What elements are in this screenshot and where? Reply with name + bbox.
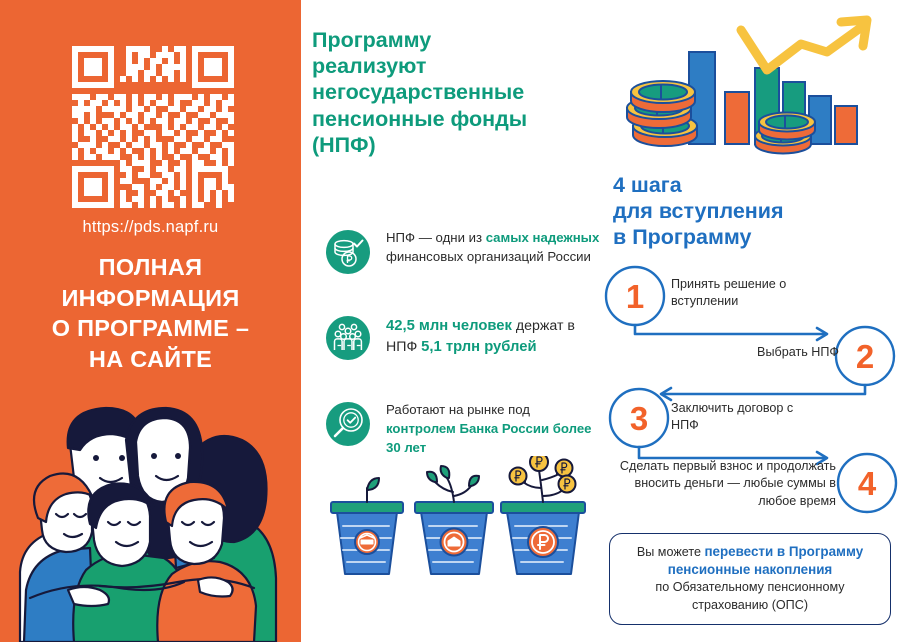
page-title-line-2: ИНФОРМАЦИЯ <box>0 283 301 314</box>
steps-heading: 4 шага для вступления в Программу <box>613 172 898 251</box>
middle-heading: Программу реализуют негосударственные пе… <box>312 27 602 158</box>
note-line-4: страхованию (ОПС) <box>692 598 808 612</box>
right-column: 4 шага для вступления в Программу 1 Прин… <box>601 0 900 642</box>
fact-text-reliability: НПФ — одни из самых надежных финансовых … <box>386 222 602 266</box>
fact-item-reliability: НПФ — одни из самых надежных финансовых … <box>312 222 602 300</box>
steps-heading-line-3: в Программу <box>613 224 898 250</box>
middle-column: Программу реализуют негосударственные пе… <box>301 0 601 642</box>
step-label-1: Принять решение о вступлении <box>671 276 801 311</box>
steps-heading-line-1: 4 шага <box>613 172 898 198</box>
qr-code[interactable] <box>66 40 240 214</box>
fact-text-plain: НПФ — одни из <box>386 230 486 245</box>
fact-text-emphasis: контролем Банка России более 30 лет <box>386 421 592 455</box>
note-line-3: по Обязательному пенсионному <box>655 580 844 594</box>
group-of-people-illustration <box>8 392 301 642</box>
middle-heading-line-5: (НПФ) <box>312 132 602 158</box>
fact-text-plain-2: финансовых организаций России <box>386 249 591 264</box>
magnifier-check-icon <box>326 402 370 446</box>
step-label-4: Сделать первый взнос и продолжать вносит… <box>611 458 836 510</box>
step-number-4: 4 <box>847 467 887 500</box>
left-orange-panel: https://pds.napf.ru ПОЛНАЯ ИНФОРМАЦИЯ О … <box>0 0 301 642</box>
steps-heading-line-2: для вступления <box>613 198 898 224</box>
step-number-3: 3 <box>619 402 659 435</box>
middle-heading-line-2: реализуют <box>312 53 602 79</box>
money-plants-illustration <box>311 456 601 636</box>
fact-text-supervision: Работают на рынке под контролем Банка Ро… <box>386 394 602 457</box>
page-title: ПОЛНАЯ ИНФОРМАЦИЯ О ПРОГРАММЕ – НА САЙТЕ <box>0 252 301 374</box>
fact-text-emphasis: 42,5 млн человек <box>386 318 512 334</box>
fact-text-emphasis: самых надежных <box>486 230 600 245</box>
page-title-line-3: О ПРОГРАММЕ – <box>0 313 301 344</box>
page-title-line-1: ПОЛНАЯ <box>0 252 301 283</box>
step-label-2: Выбрать НПФ <box>719 344 839 361</box>
step-number-2: 2 <box>845 340 885 373</box>
coins-check-icon <box>326 230 370 274</box>
bar-chart-illustration <box>605 8 895 160</box>
note-line-1-bold: перевести в Программу <box>704 544 863 559</box>
middle-heading-line-4: пенсионные фонды <box>312 106 602 132</box>
note-line-1-plain: Вы можете <box>637 545 705 559</box>
qr-url-label: https://pds.napf.ru <box>0 218 301 237</box>
step-label-3: Заключить договор с НПФ <box>671 400 811 435</box>
fact-text-plain: Работают на рынке под <box>386 402 530 417</box>
fact-text-emphasis-2: 5,1 трлн рублей <box>421 339 536 355</box>
facts-list: НПФ — одни из самых надежных финансовых … <box>312 222 602 480</box>
people-group-icon <box>326 316 370 360</box>
step-number-1: 1 <box>615 280 655 313</box>
fact-text-participants: 42,5 млн человек держат в НПФ 5,1 трлн р… <box>386 308 602 359</box>
fact-item-participants: 42,5 млн человек держат в НПФ 5,1 трлн р… <box>312 308 602 386</box>
note-line-2-bold: пенсионные накопления <box>668 562 833 577</box>
middle-heading-line-3: негосударственные <box>312 79 602 105</box>
middle-heading-line-1: Программу <box>312 27 602 53</box>
steps-diagram: 1 Принять решение о вступлении 2 Выбрать… <box>601 262 900 524</box>
transfer-note-box: Вы можете перевести в Программу пенсионн… <box>609 533 891 625</box>
page-title-line-4: НА САЙТЕ <box>0 344 301 375</box>
